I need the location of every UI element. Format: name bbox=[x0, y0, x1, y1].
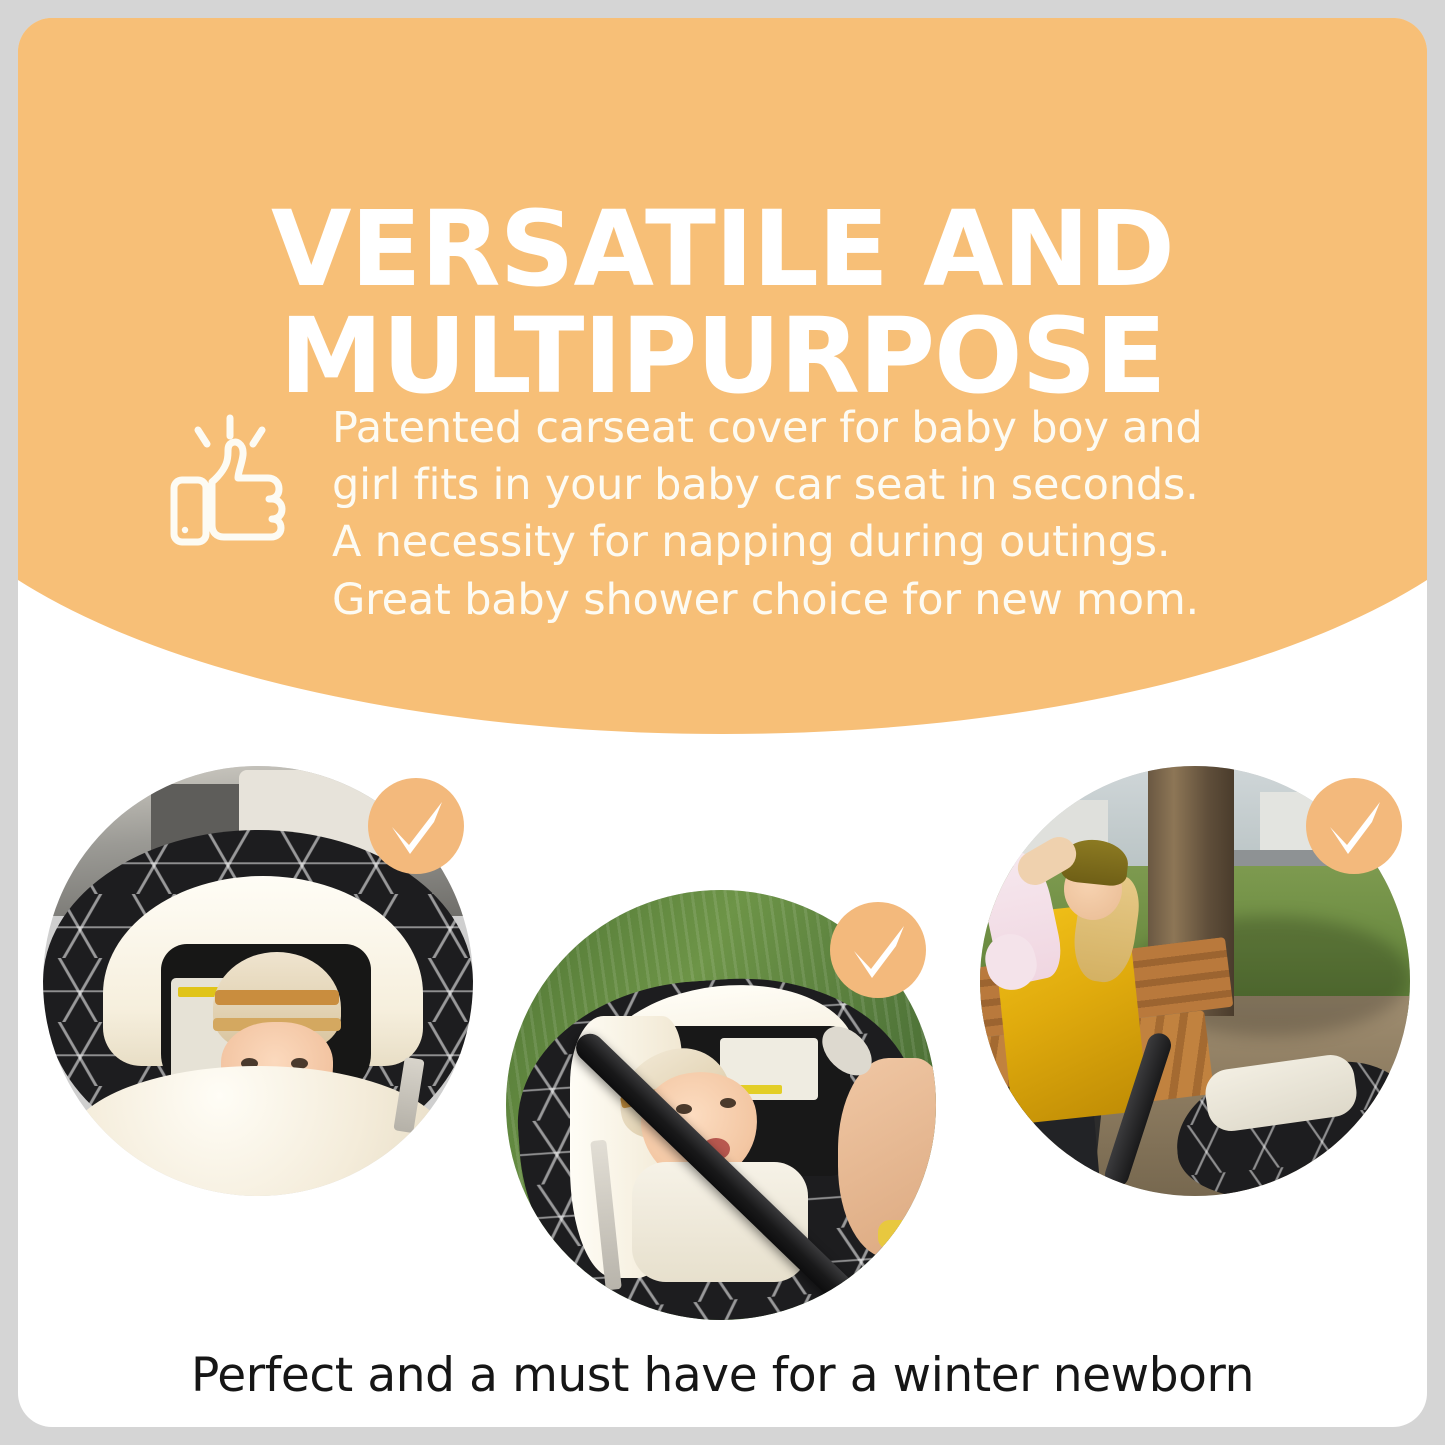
headline-line-1: VERSATILE AND bbox=[18, 196, 1427, 303]
page-title: VERSATILE AND MULTIPURPOSE bbox=[18, 196, 1427, 410]
feature-line-1: Patented carseat cover for baby boy and bbox=[332, 400, 1328, 457]
check-icon bbox=[1306, 778, 1402, 874]
baby-eye-right bbox=[720, 1098, 736, 1108]
hat-stripe-1 bbox=[215, 990, 339, 1005]
footer-caption: Perfect and a must have for a winter new… bbox=[18, 1348, 1427, 1403]
feature-line-2: girl fits in your baby car seat in secon… bbox=[332, 457, 1328, 514]
feature-description: Patented carseat cover for baby boy and … bbox=[332, 400, 1328, 629]
feature-block: Patented carseat cover for baby boy and … bbox=[168, 400, 1328, 629]
infographic-page: VERSATILE AND MULTIPURPOSE Patented c bbox=[0, 0, 1445, 1445]
feature-line-3: A necessity for napping during outings. bbox=[332, 514, 1328, 571]
baby-eye-left bbox=[676, 1104, 692, 1114]
headline-line-2: MULTIPURPOSE bbox=[18, 303, 1427, 410]
content-card: VERSATILE AND MULTIPURPOSE Patented c bbox=[18, 18, 1427, 1427]
feature-line-4: Great baby shower choice for new mom. bbox=[332, 572, 1328, 629]
check-icon bbox=[368, 778, 464, 874]
thumbs-up-icon bbox=[168, 412, 288, 552]
baby-sock bbox=[878, 1220, 924, 1250]
check-icon bbox=[830, 902, 926, 998]
